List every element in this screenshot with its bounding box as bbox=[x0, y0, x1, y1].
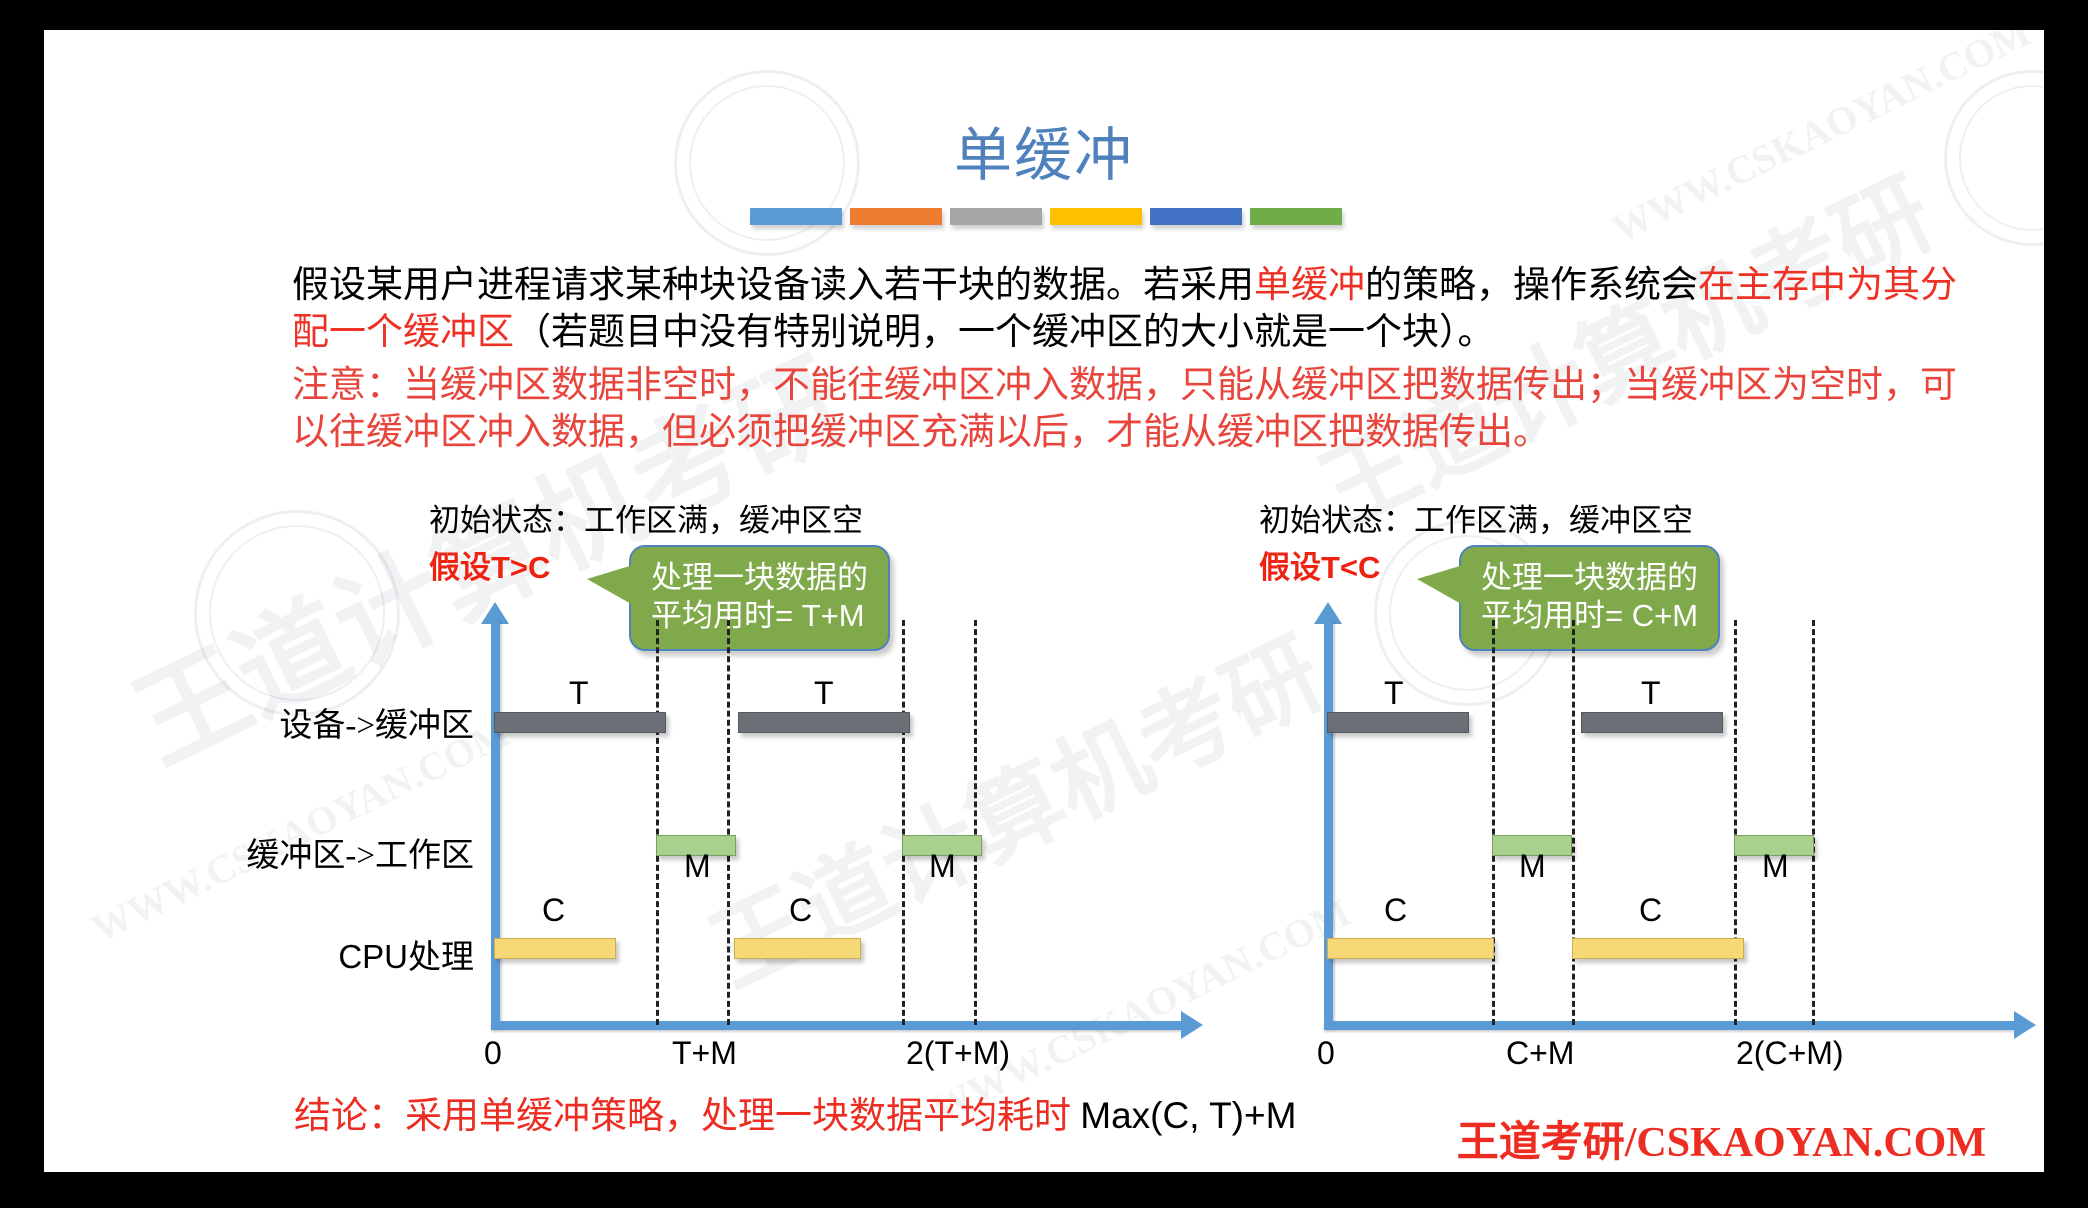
x-axis-line bbox=[1324, 1021, 2014, 1030]
x-axis-arrow-icon bbox=[2014, 1011, 2036, 1039]
segment-label-t1: T bbox=[1384, 675, 1404, 712]
segment-label-m2: M bbox=[1762, 848, 1789, 885]
tick-label-0: 0 bbox=[1317, 1035, 1335, 1072]
conclusion-line: 结论：采用单缓冲策略，处理一块数据平均耗时 Max(C, T)+M bbox=[294, 1085, 1296, 1139]
segment-label-m1: M bbox=[1519, 848, 1546, 885]
tick-label-1: C+M bbox=[1506, 1035, 1574, 1072]
callout-tail-icon bbox=[1417, 565, 1463, 605]
segment-label-t2: T bbox=[1641, 675, 1661, 712]
tick-label-2: 2(C+M) bbox=[1736, 1035, 1844, 1072]
chart-right-assumption: 假设T<C bbox=[1259, 542, 1380, 587]
segment-bar-c1 bbox=[1327, 938, 1494, 959]
chart-right: 初始状态：工作区满，缓冲区空 假设T<C 处理一块数据的 平均用时= C+M T… bbox=[44, 30, 2044, 1070]
segment-bar-t2 bbox=[1581, 712, 1723, 733]
callout-right-line2: 平均用时= C+M bbox=[1481, 597, 1698, 635]
y-axis-arrow-icon bbox=[1314, 602, 1342, 624]
chart-right-callout: 处理一块数据的 平均用时= C+M bbox=[1459, 545, 1720, 651]
conclusion-formula: Max(C, T)+M bbox=[1080, 1095, 1296, 1136]
divider-line-4 bbox=[1812, 620, 1815, 1025]
slide-canvas: 王道计算机考研 王道计算机考研 王道计算机考研 WWW.CSKAOYAN.COM… bbox=[44, 30, 2044, 1172]
callout-right-line1: 处理一块数据的 bbox=[1481, 559, 1698, 597]
brand-footer: 王道考研/CSKAOYAN.COM bbox=[1457, 1108, 1986, 1169]
segment-label-c2: C bbox=[1639, 892, 1662, 929]
chart-right-header: 初始状态：工作区满，缓冲区空 bbox=[1259, 495, 1693, 540]
segment-bar-t1 bbox=[1327, 712, 1469, 733]
divider-line-1 bbox=[1492, 620, 1495, 1025]
segment-label-c1: C bbox=[1384, 892, 1407, 929]
divider-line-2 bbox=[1572, 620, 1575, 1025]
segment-bar-c2 bbox=[1572, 938, 1744, 959]
conclusion-text: 结论：采用单缓冲策略，处理一块数据平均耗时 bbox=[294, 1096, 1071, 1137]
divider-line-3 bbox=[1734, 620, 1737, 1025]
y-axis-line bbox=[1324, 622, 1333, 1030]
